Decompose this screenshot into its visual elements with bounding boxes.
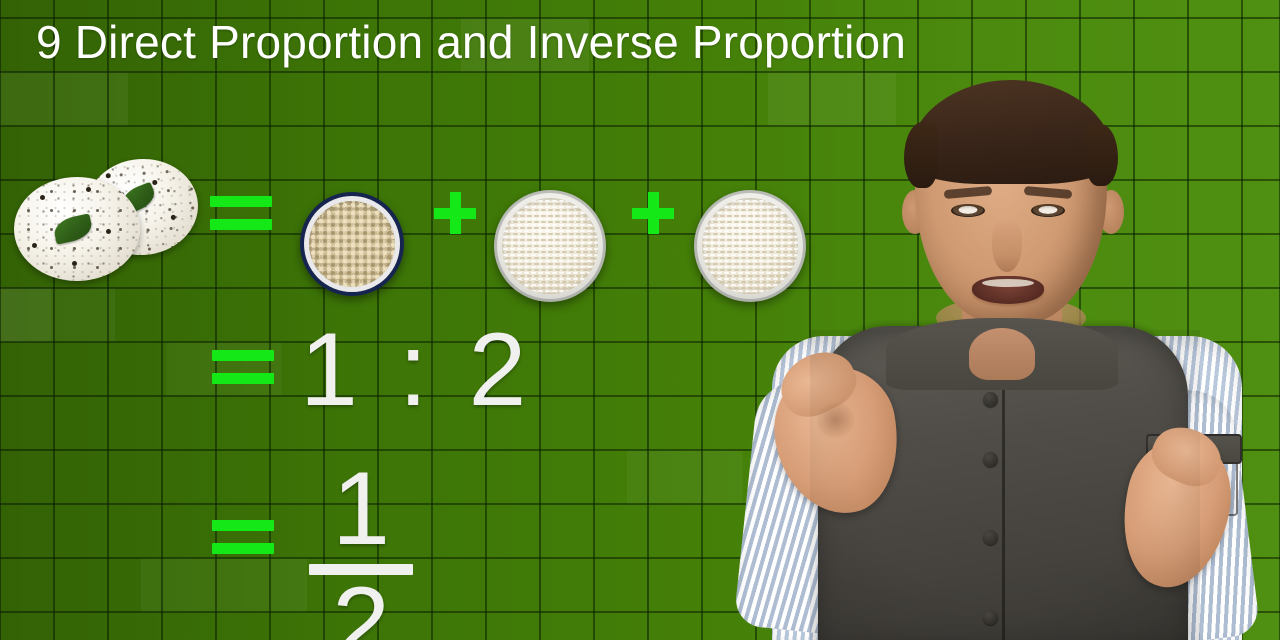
fraction-row: 1 2 (0, 490, 520, 640)
dal-fill (309, 201, 395, 287)
presenter-mouth (972, 276, 1044, 304)
presenter-jacket-button (983, 392, 998, 407)
dal-grains (309, 201, 395, 287)
idli-image (12, 157, 198, 269)
presenter-jacket-button (983, 452, 998, 467)
idli-mustard-seed (106, 229, 111, 234)
idli-mustard-seed (72, 261, 77, 266)
ratio-value: 1 : 2 (300, 318, 532, 422)
fraction-denominator: 2 (306, 577, 416, 640)
presenter-nose (992, 218, 1022, 272)
presenter-hair (908, 80, 1114, 184)
rice-grains (502, 198, 598, 294)
idli-mustard-seed (32, 243, 37, 248)
idli-mustard-seed (86, 187, 91, 192)
slide-canvas: 9 Direct Proportion and Inverse Proporti… (0, 0, 1280, 640)
plus-operator-icon (434, 192, 476, 234)
idli-front (14, 177, 140, 281)
idli-mustard-seed (40, 195, 45, 200)
ratio-row: 1 : 2 (0, 326, 520, 436)
presenter-video (700, 0, 1280, 640)
plus-operator-icon (632, 192, 674, 234)
urad-dal-bowl-image (300, 192, 404, 296)
presenter-eye-left (951, 204, 985, 217)
equals-operator-icon (212, 520, 274, 554)
equals-operator-icon (212, 350, 274, 384)
presenter-jacket-button (983, 530, 998, 545)
presenter-jacket-collar (886, 318, 1118, 390)
fraction-numerator: 1 (306, 462, 416, 558)
presenter-eye-right (1031, 204, 1065, 217)
equals-operator-icon (210, 196, 272, 230)
rice-bowl-image-1 (494, 190, 606, 302)
presenter-jacket-button (983, 610, 998, 625)
fraction: 1 2 (306, 462, 416, 640)
